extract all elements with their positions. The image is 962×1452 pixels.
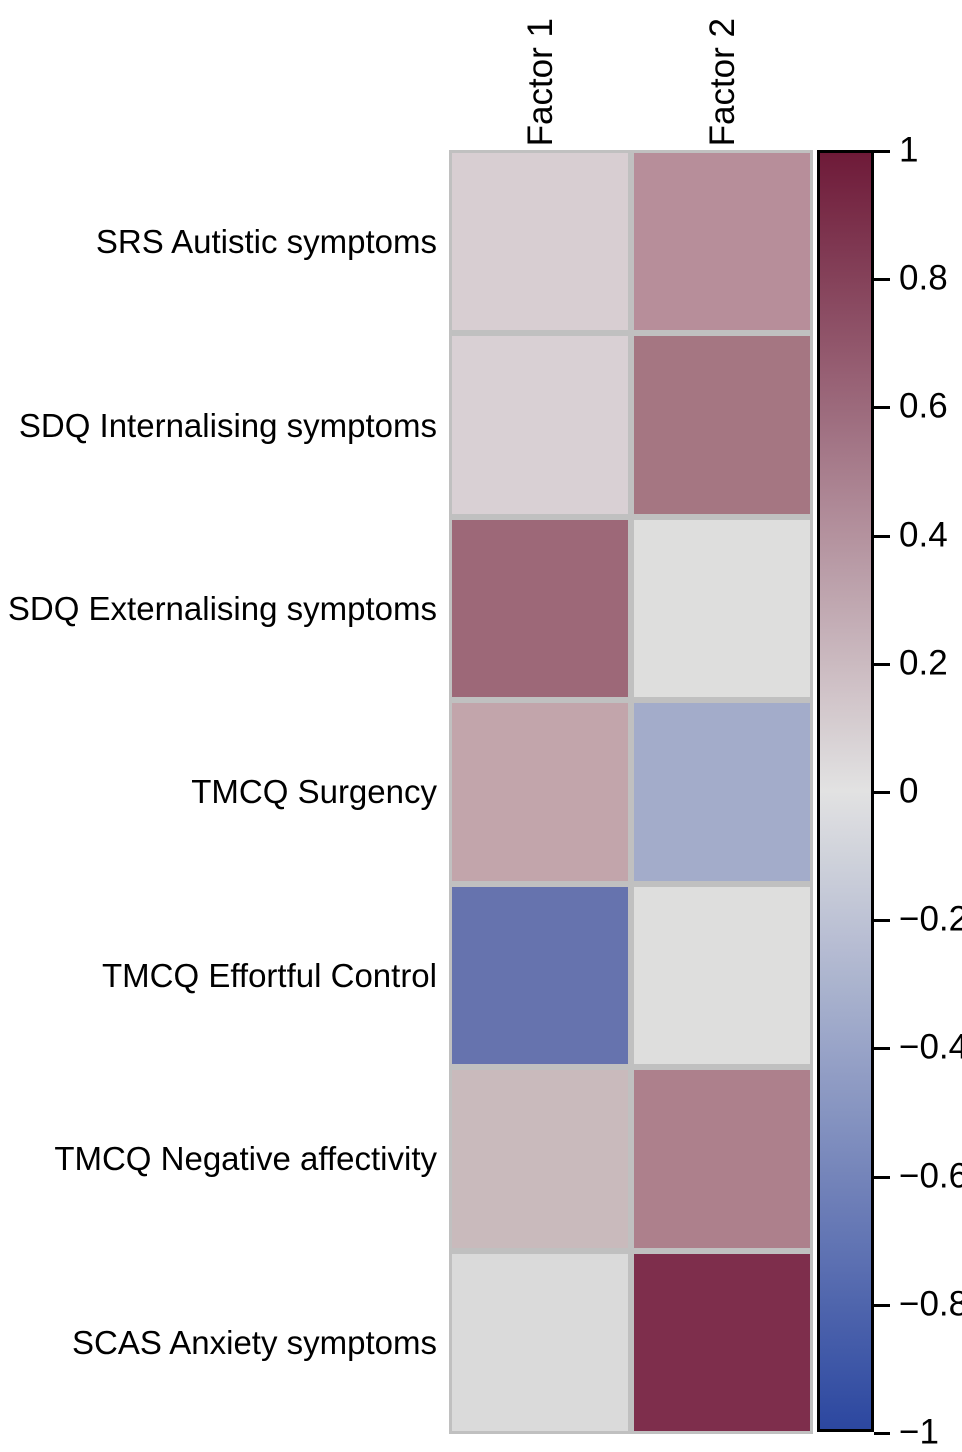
- row-label-text: TMCQ Negative affectivity: [54, 1142, 437, 1175]
- row-label-text: TMCQ Effortful Control: [102, 959, 437, 992]
- row-label-3: SDQ Externalising symptoms: [0, 517, 437, 700]
- column-header-2: Factor 2: [631, 0, 813, 146]
- colorbar-tick-mark: [874, 1047, 890, 1050]
- row-label-6: TMCQ Negative affectivity: [0, 1067, 437, 1250]
- row-label-text: SRS Autistic symptoms: [96, 225, 437, 258]
- colorbar-tick-mark: [874, 278, 890, 281]
- colorbar-tick-mark: [874, 150, 890, 153]
- factor-loading-heatmap-figure: Factor 1Factor 2 SRS Autistic symptomsSD…: [0, 0, 962, 1450]
- colorbar-tick-mark: [874, 919, 890, 922]
- row-label-1: SRS Autistic symptoms: [0, 150, 437, 333]
- colorbar-tick-label: 0.8: [899, 261, 948, 296]
- row-label-text: SDQ Internalising symptoms: [19, 409, 437, 442]
- row-label-text: SCAS Anxiety symptoms: [72, 1326, 437, 1359]
- colorbar-tick-label: 0.4: [899, 517, 948, 552]
- heatmap-cell: [634, 703, 810, 880]
- column-header-1: Factor 1: [449, 0, 631, 146]
- row-label-text: SDQ Externalising symptoms: [8, 592, 437, 625]
- colorbar-tick-label: 0.6: [899, 389, 948, 424]
- colorbar-tick-mark: [874, 1304, 890, 1307]
- heatmap-cell: [452, 1070, 628, 1247]
- column-header-label: Factor 2: [705, 18, 740, 146]
- row-label-7: SCAS Anxiety symptoms: [0, 1251, 437, 1434]
- colorbar-tick-label: −0.8: [899, 1286, 962, 1321]
- column-header-label: Factor 1: [523, 18, 558, 146]
- colorbar-tick-label: −1: [899, 1415, 939, 1450]
- heatmap-cell: [634, 153, 810, 330]
- colorbar-tick-mark: [874, 535, 890, 538]
- colorbar-tick-mark: [874, 1176, 890, 1179]
- heatmap-cell: [634, 887, 810, 1064]
- heatmap-cell: [634, 520, 810, 697]
- heatmap-cell: [634, 1254, 810, 1431]
- heatmap-cell: [452, 336, 628, 513]
- row-label-5: TMCQ Effortful Control: [0, 884, 437, 1067]
- heatmap-cell: [452, 153, 628, 330]
- colorbar-tick-mark: [874, 663, 890, 666]
- heatmap-grid: [449, 150, 813, 1434]
- colorbar-tick-label: 0: [899, 774, 918, 809]
- colorbar-tick-label: −0.6: [899, 1158, 962, 1193]
- row-label-text: TMCQ Surgency: [191, 775, 437, 808]
- colorbar-tick-label: −0.4: [899, 1030, 962, 1065]
- heatmap-cell: [452, 887, 628, 1064]
- colorbar-tick-label: −0.2: [899, 902, 962, 937]
- row-label-4: TMCQ Surgency: [0, 700, 437, 883]
- colorbar-tick-mark: [874, 406, 890, 409]
- heatmap-cell: [452, 703, 628, 880]
- colorbar-tick-mark: [874, 791, 890, 794]
- heatmap-cell: [452, 520, 628, 697]
- heatmap-cell: [634, 336, 810, 513]
- colorbar-legend: 10.80.60.40.20−0.2−0.4−0.6−0.8−1: [817, 150, 874, 1432]
- colorbar-gradient: [817, 150, 874, 1432]
- colorbar-tick-label: 1: [899, 133, 918, 168]
- heatmap-cell: [452, 1254, 628, 1431]
- colorbar-tick-mark: [874, 1432, 890, 1435]
- heatmap-cell: [634, 1070, 810, 1247]
- row-label-2: SDQ Internalising symptoms: [0, 333, 437, 516]
- colorbar-tick-label: 0.2: [899, 645, 948, 680]
